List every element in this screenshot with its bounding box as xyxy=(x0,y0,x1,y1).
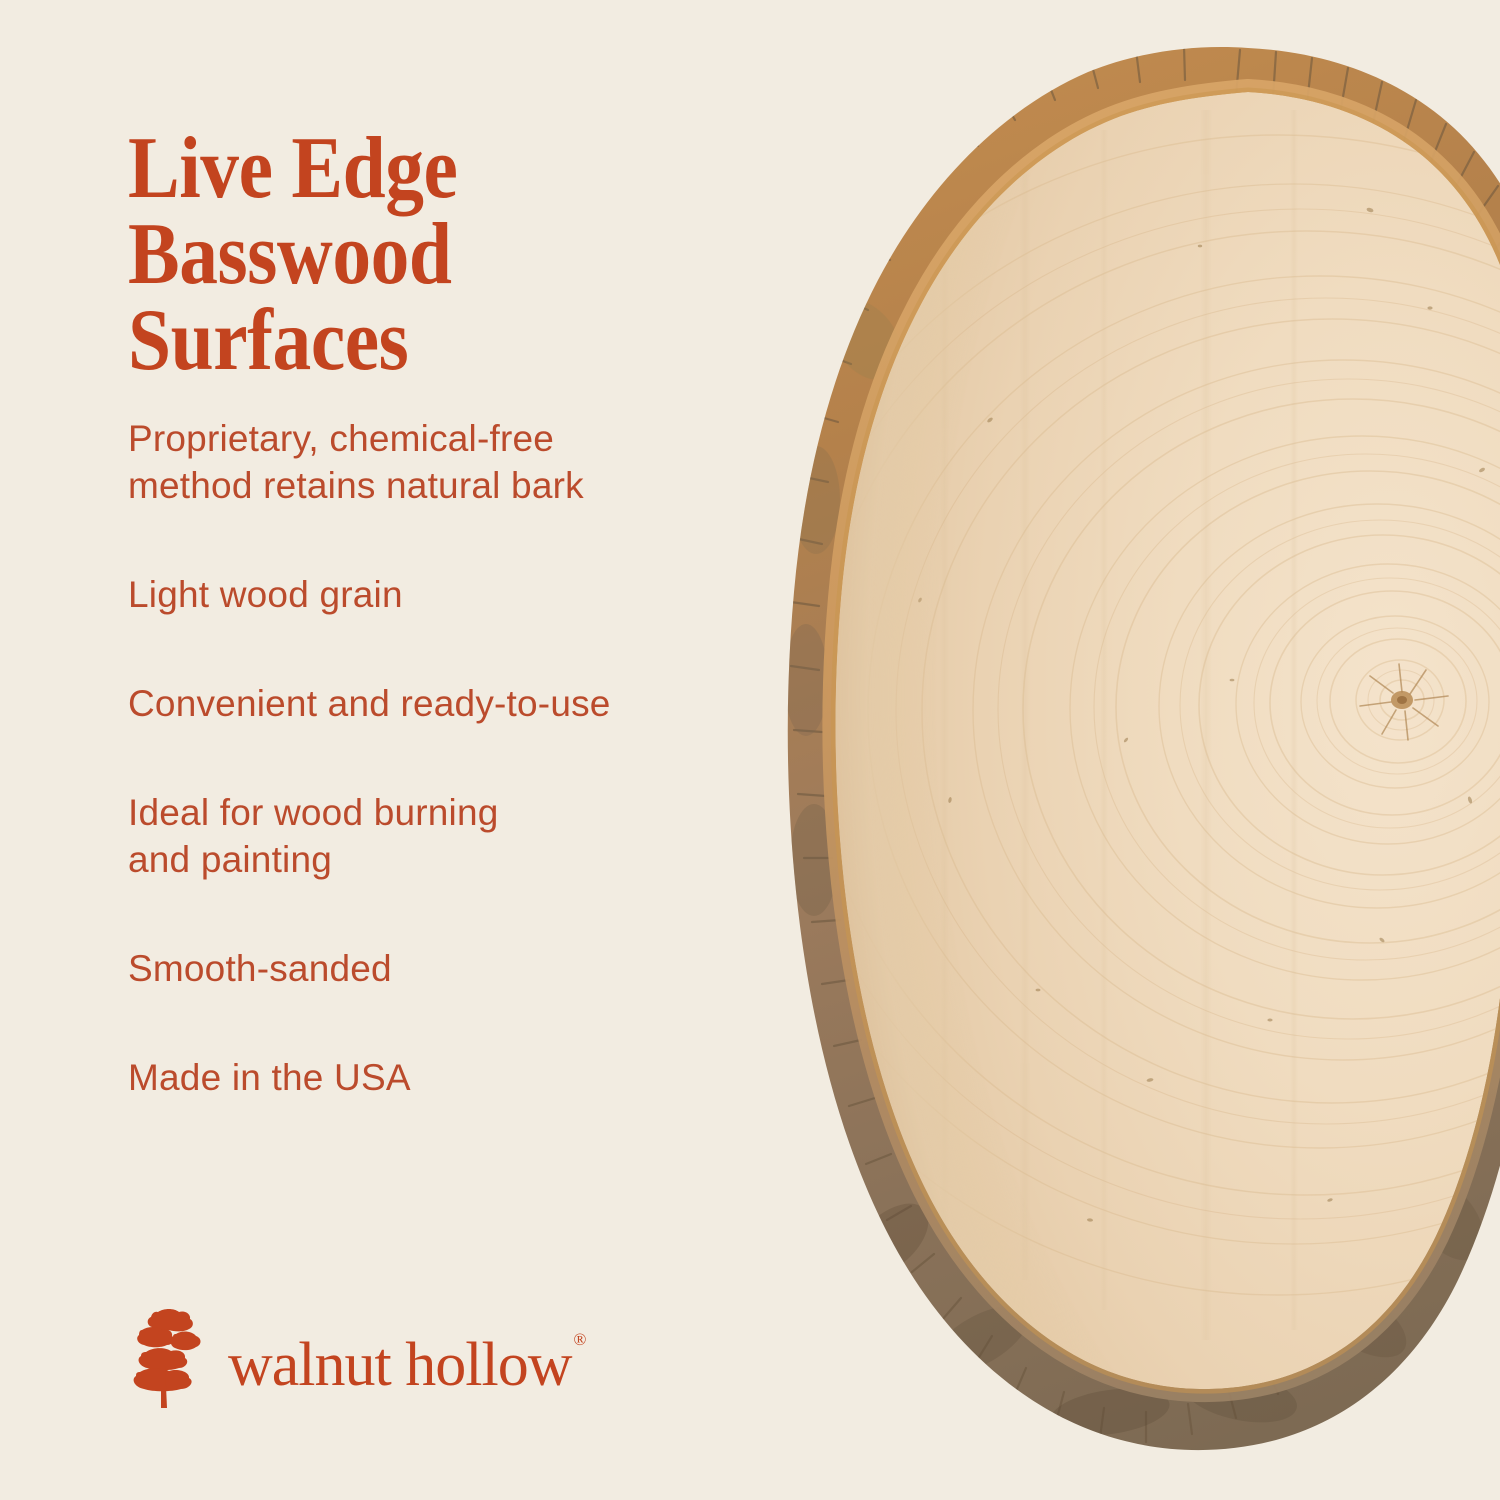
brand-name: walnut hollow® xyxy=(228,1334,584,1396)
feature-item: Convenient and ready-to-use xyxy=(128,681,748,728)
tree-icon xyxy=(128,1306,206,1410)
product-feature-graphic: Live Edge Basswood Surfaces Proprietary,… xyxy=(0,0,1500,1500)
feature-item: Smooth-sanded xyxy=(128,946,748,993)
copy-column: Live Edge Basswood Surfaces Proprietary,… xyxy=(128,0,788,1500)
page-title: Live Edge Basswood Surfaces xyxy=(128,126,726,385)
wood-slice-image xyxy=(770,40,1500,1460)
feature-list: Proprietary, chemical-free method retain… xyxy=(128,416,748,1102)
feature-item: Made in the USA xyxy=(128,1055,748,1102)
registered-trademark-symbol: ® xyxy=(573,1330,586,1349)
brand-logo: walnut hollow® xyxy=(128,1298,584,1410)
feature-item: Ideal for wood burning and painting xyxy=(128,790,748,884)
wood-slice-illustration xyxy=(770,40,1500,1460)
feature-item: Proprietary, chemical-free method retain… xyxy=(128,416,748,510)
feature-item: Light wood grain xyxy=(128,572,748,619)
brand-name-text: walnut hollow xyxy=(228,1331,571,1399)
